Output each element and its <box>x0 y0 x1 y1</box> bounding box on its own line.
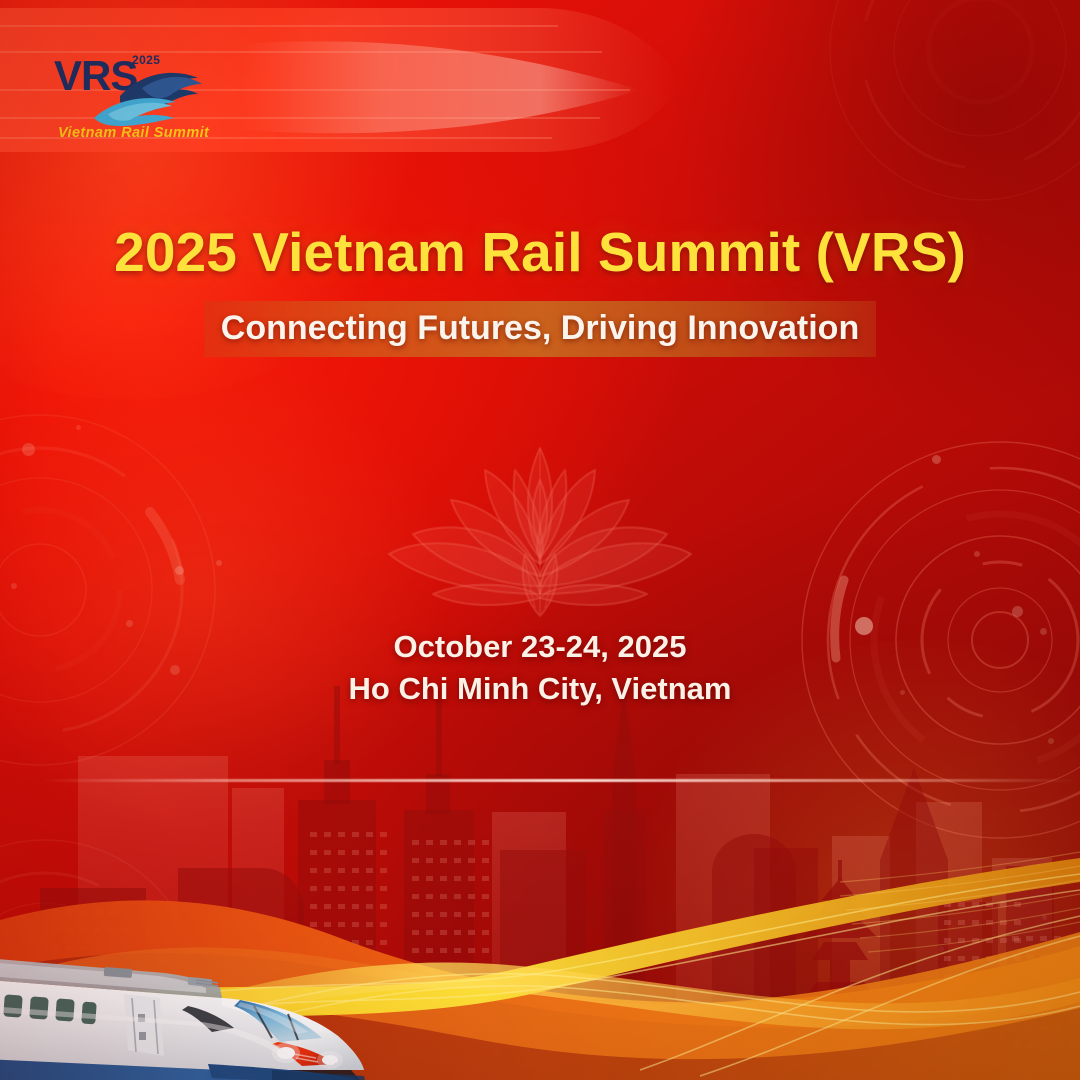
tech-rings-top-right-icon <box>820 0 1080 210</box>
poster-canvas: VRS 2025 Vietnam Rail Summit 2025 Vietna… <box>0 0 1080 1080</box>
event-location: Ho Chi Minh City, Vietnam <box>0 668 1080 710</box>
subtitle-banner: Connecting Futures, Driving Innovation <box>204 301 876 357</box>
vignette-overlay <box>0 0 1080 1080</box>
bokeh-particle <box>216 560 222 566</box>
svg-text:2025: 2025 <box>132 53 160 67</box>
bokeh-particle <box>1003 883 1011 891</box>
tech-rings-lower-left-icon <box>0 830 210 1080</box>
lotus-flower-watermark-icon <box>375 418 705 618</box>
svg-text:Vietnam Rail Summit: Vietnam Rail Summit <box>58 125 210 140</box>
golden-wave-ribbons-icon <box>0 770 1080 1080</box>
bokeh-particle <box>974 551 980 557</box>
event-dates: October 23-24, 2025 <box>0 626 1080 668</box>
bokeh-particle <box>11 583 17 589</box>
bokeh-particle <box>1042 915 1047 920</box>
event-details: October 23-24, 2025 Ho Chi Minh City, Vi… <box>0 626 1080 709</box>
ho-chi-minh-city-skyline-silhouette-icon <box>0 660 1080 1080</box>
vrs-logo[interactable]: VRS 2025 Vietnam Rail Summit <box>46 44 236 140</box>
high-speed-train-image <box>0 856 472 1080</box>
page-title: 2025 Vietnam Rail Summit (VRS) <box>0 222 1080 284</box>
bokeh-particle <box>1048 738 1054 744</box>
bokeh-particle <box>22 443 35 456</box>
bokeh-particle <box>1012 606 1023 617</box>
bokeh-particle <box>76 425 81 430</box>
glow-top-right <box>660 0 1080 420</box>
headline-block: 2025 Vietnam Rail Summit (VRS) Connectin… <box>0 222 1080 357</box>
subtitle-wrap: Connecting Futures, Driving Innovation <box>0 301 1080 357</box>
bridge-icon <box>548 974 658 1080</box>
bokeh-particle <box>932 455 941 464</box>
bokeh-particle <box>938 946 944 952</box>
bokeh-particle <box>175 566 184 575</box>
tech-rings-left-icon <box>0 400 230 780</box>
glow-mid-left <box>0 330 460 850</box>
horizon-streak <box>40 779 1080 782</box>
